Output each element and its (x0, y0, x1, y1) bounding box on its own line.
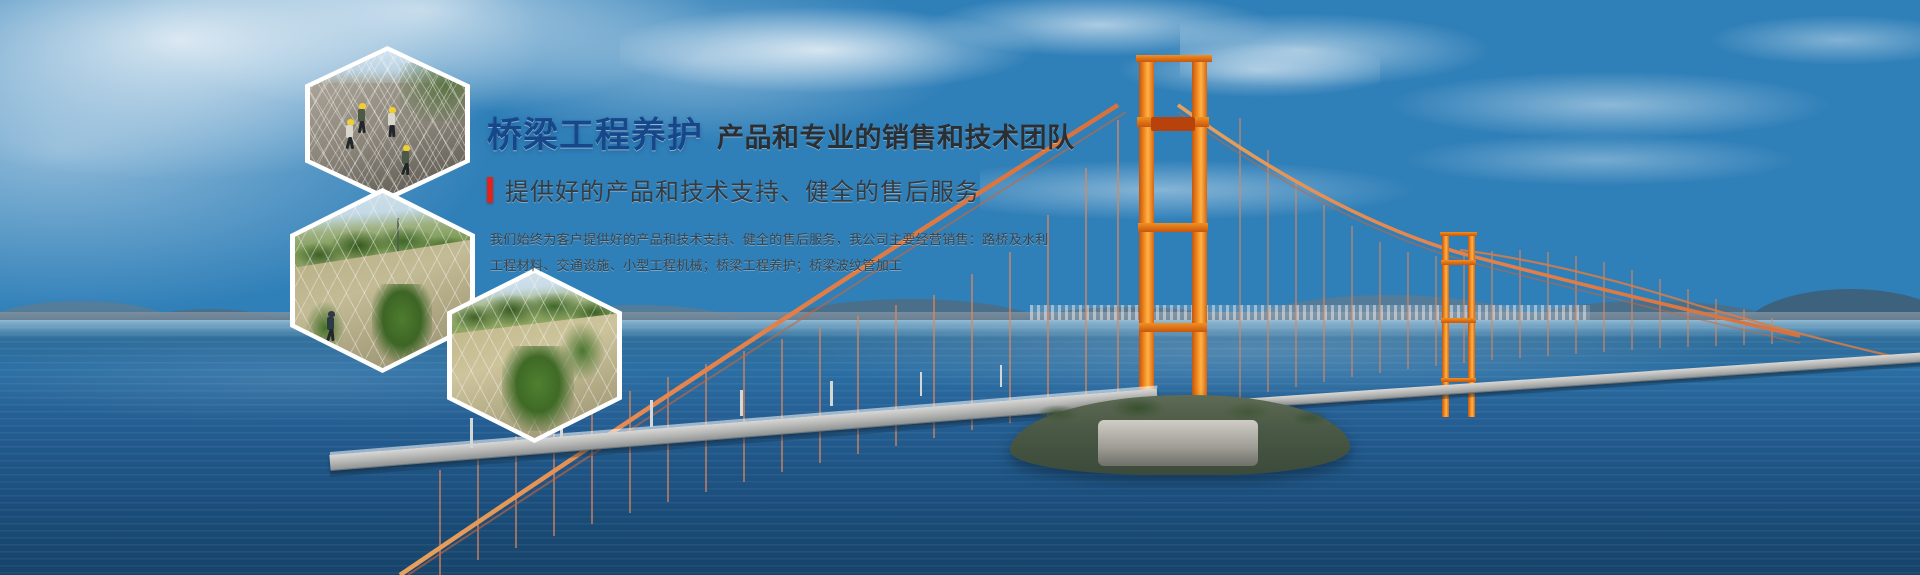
body-line: 工程材料、交通设施、小型工程机械；桥梁工程养护；桥梁波纹管加工 (490, 255, 1047, 274)
gallery-item-rock-slope-mesh-installation[interactable] (305, 46, 470, 201)
body-line: 我们始终为客户提供好的产品和技术支持、健全的售后服务，我公司主要经营销售：路桥及… (490, 229, 1047, 248)
sea-background (0, 320, 1920, 575)
subheadline-text: 提供好的产品和技术支持、健全的售后服务 (505, 172, 980, 207)
accent-bar-icon (487, 177, 493, 203)
banner-copy: 桥梁工程养护 产品和专业的销售和技术团队 提供好的产品和技术支持、健全的售后服务… (487, 118, 1047, 281)
cloud-icon (980, 120, 1920, 270)
headline-primary: 桥梁工程养护 (487, 118, 703, 153)
subheadline: 提供好的产品和技术支持、健全的售后服务 (487, 172, 1047, 207)
headline-secondary: 产品和专业的销售和技术团队 (717, 125, 1075, 152)
hero-banner: 桥梁工程养护 产品和专业的销售和技术团队 提供好的产品和技术支持、健全的售后服务… (0, 0, 1920, 575)
headline: 桥梁工程养护 产品和专业的销售和技术团队 (487, 118, 1047, 153)
body-copy: 我们始终为客户提供好的产品和技术支持、健全的售后服务，我公司主要经营销售：路桥及… (487, 229, 1047, 274)
